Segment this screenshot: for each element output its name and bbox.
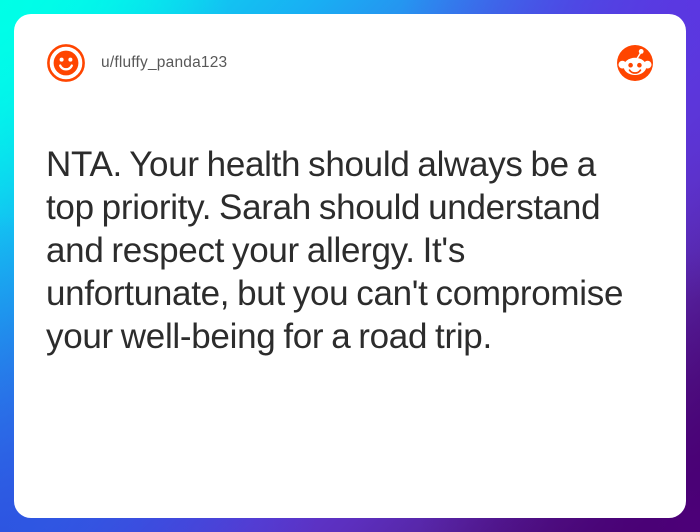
post-body-text: NTA. Your health should always be a top … [46, 143, 646, 358]
reddit-snoo-logo-icon[interactable] [616, 44, 654, 82]
smiley-face-avatar-icon[interactable] [46, 43, 86, 83]
card-header: u/fluffy_panda123 [46, 40, 654, 86]
reddit-comment-card: u/fluffy_panda123 NTA. Your health sho [14, 14, 686, 518]
username-label: u/fluffy_panda123 [101, 54, 227, 72]
